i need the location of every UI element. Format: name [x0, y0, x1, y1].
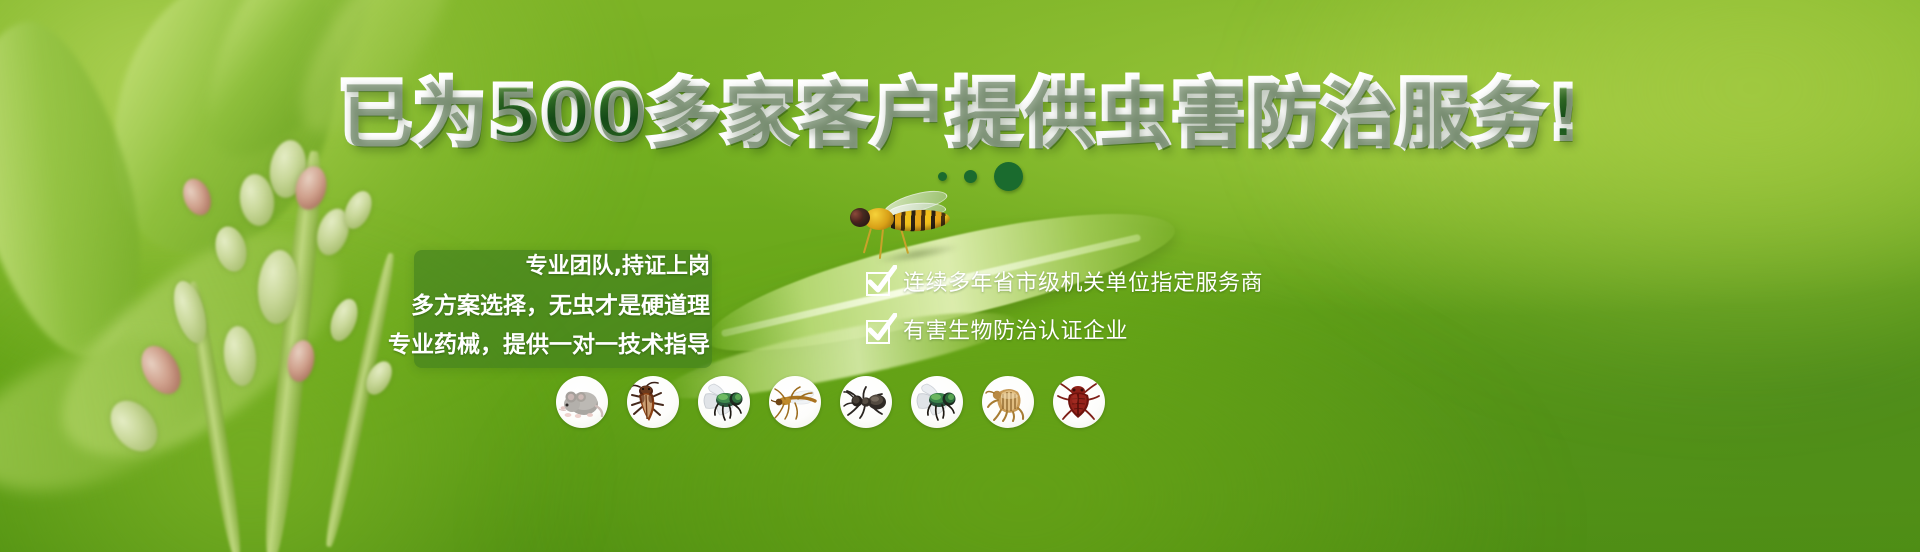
selling-points-list: 专业团队,持证上岗 多方案选择，无虫才是硬道理 专业药械，提供一对一技术指导 [336, 254, 722, 358]
checklist-item: 有害生物防治认证企业 [866, 320, 1263, 344]
selling-point-line: 多方案选择，无虫才是硬道理 [411, 293, 710, 319]
checkbox-checked-icon [866, 320, 890, 344]
flea-icon[interactable] [982, 376, 1034, 428]
certification-checklist: 连续多年省市级机关单位指定服务商 有害生物防治认证企业 [866, 272, 1263, 344]
decorative-dot-large [994, 162, 1023, 191]
decorative-dot-small [938, 172, 947, 181]
bedbug-icon[interactable] [1053, 376, 1105, 428]
hoverfly-leg [863, 228, 872, 254]
blowfly-icon[interactable] [698, 376, 750, 428]
mouse-icon[interactable] [556, 376, 608, 428]
plant-bud [221, 324, 259, 387]
plant-bud [211, 223, 251, 275]
checklist-item-label: 连续多年省市级机关单位指定服务商 [903, 272, 1263, 296]
decorative-dot-medium [964, 170, 977, 183]
checkbox-checked-icon [866, 272, 890, 296]
banner-headline-text: 已为500多家客户提供虫害防治服务! [338, 71, 1582, 156]
hoverfly-eye [851, 210, 863, 223]
housefly-icon[interactable] [911, 376, 963, 428]
selling-point-line: 专业团队,持证上岗 [526, 254, 710, 280]
checklist-item: 连续多年省市级机关单位指定服务商 [866, 272, 1263, 296]
checklist-item-label: 有害生物防治认证企业 [903, 320, 1128, 344]
pest-type-icon-strip [556, 376, 1105, 428]
selling-point-line: 专业药械，提供一对一技术指导 [388, 332, 710, 358]
mosquito-icon[interactable] [769, 376, 821, 428]
ant-icon[interactable] [840, 376, 892, 428]
plant-bud [133, 339, 188, 401]
hoverfly-on-leaf-icon [848, 196, 964, 258]
decorative-dots [0, 162, 1920, 191]
banner-headline: 已为500多家客户提供虫害防治服务! [0, 76, 1920, 152]
cockroach-icon[interactable] [627, 376, 679, 428]
pest-control-hero-banner: 已为500多家客户提供虫害防治服务! 专业团队,持证上岗 多方案选择，无虫才是硬… [0, 0, 1920, 552]
background-light-wash-right [1260, 0, 1920, 400]
